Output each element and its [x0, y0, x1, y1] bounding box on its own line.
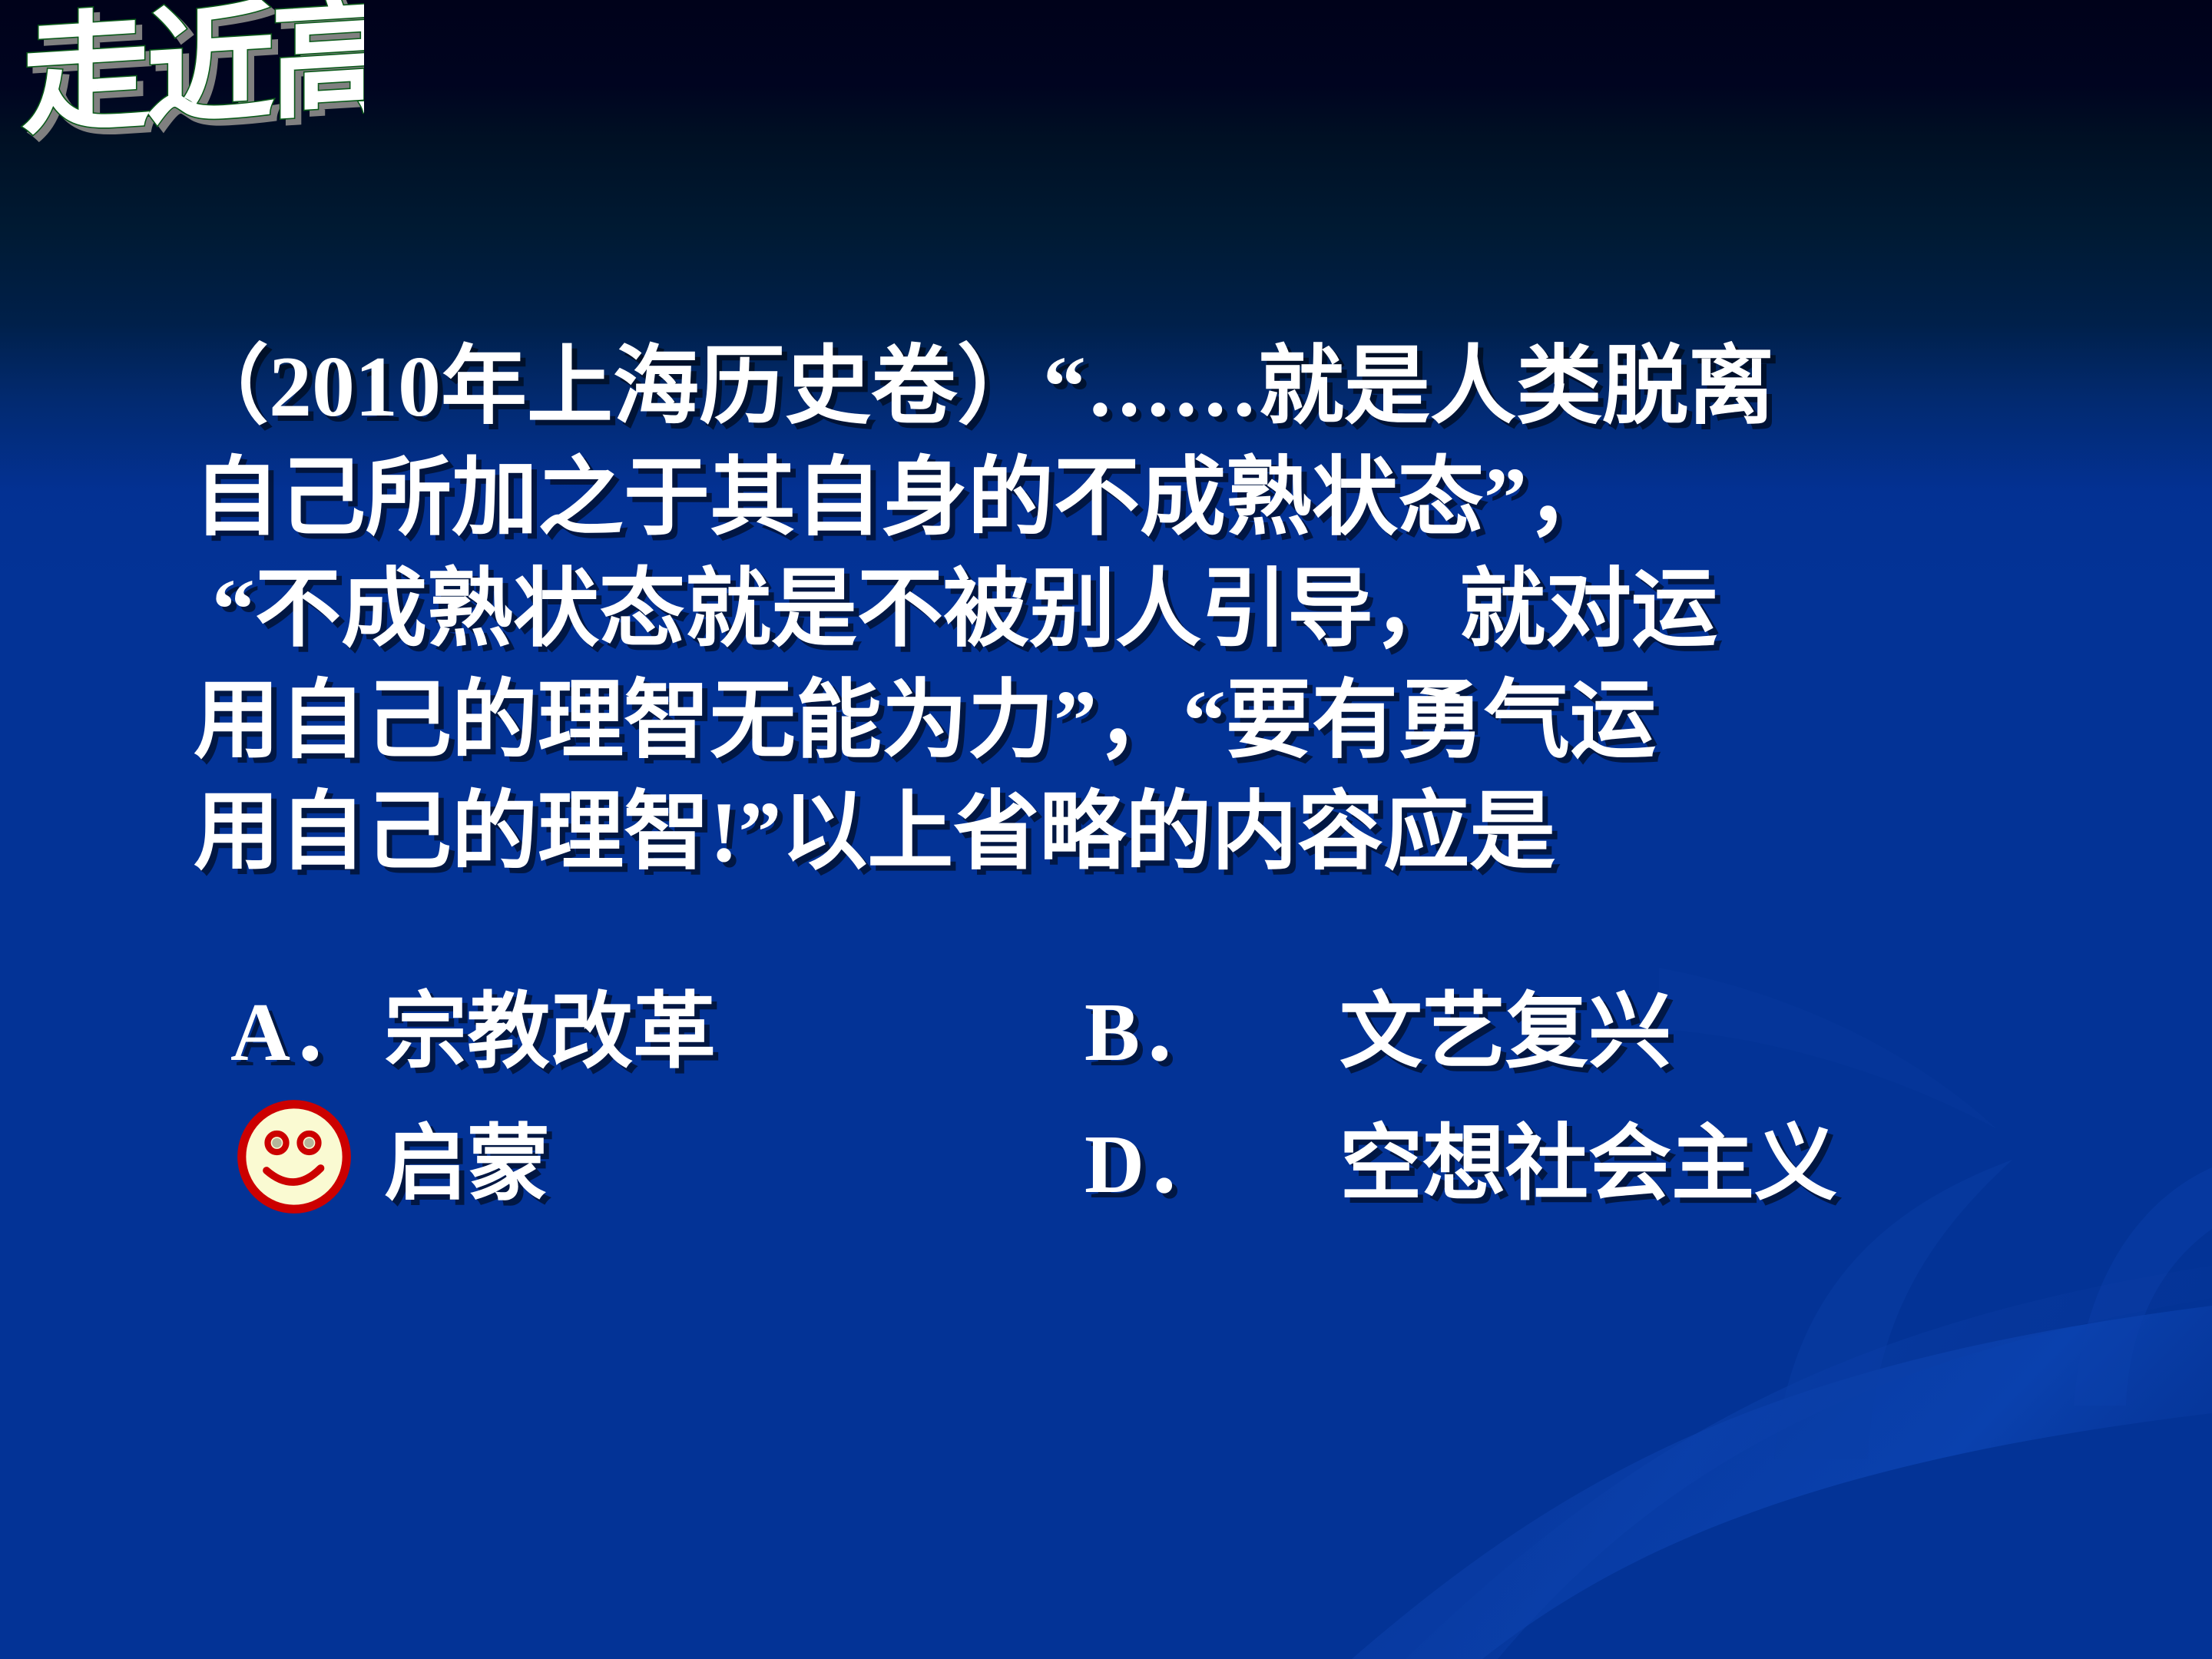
- smiley-face-icon: [237, 1098, 352, 1215]
- option-b[interactable]: B． 文艺复兴: [983, 965, 1982, 1084]
- option-a[interactable]: A． 宗教改革: [230, 965, 983, 1084]
- swoosh-band-lower-thin: [1406, 1266, 2212, 1659]
- option-a-marker: A．: [230, 965, 384, 1084]
- option-c-label: 启蒙: [384, 1097, 550, 1217]
- option-row-1: A． 宗教改革 B． 文艺复兴: [230, 959, 1997, 1091]
- question-stem: （2010年上海历史卷）“……就是人类脱离 自己所加之于其自身的不成熟状态”， …: [183, 332, 2080, 889]
- presentation-slide: 走近高考 走近高考 （2010年上海历史卷）“……就是人类脱离 自己所加之于其自…: [0, 0, 2212, 1659]
- question-line-1: （2010年上海历史卷）“……就是人类脱离: [183, 332, 2080, 443]
- option-c[interactable]: 启蒙: [230, 1097, 983, 1217]
- question-line-3: “不成熟状态就是不被别人引导，就对运: [212, 555, 2080, 666]
- option-c-marker: [230, 1098, 384, 1215]
- swoosh-hook-right: [2074, 1167, 2212, 1406]
- answer-options: A． 宗教改革 B． 文艺复兴: [230, 959, 1997, 1223]
- option-d-marker: D．: [983, 1097, 1339, 1217]
- option-a-label: 宗教改革: [384, 965, 716, 1084]
- option-d-label: 空想社会主义: [1339, 1097, 1837, 1217]
- slide-title-wordart: 走近高考 走近高考: [11, 0, 364, 174]
- smiley-right-eye-center: [304, 1138, 314, 1148]
- option-b-marker: B．: [983, 965, 1339, 1084]
- smiley-face-circle: [242, 1104, 347, 1210]
- title-svg: 走近高考 走近高考: [11, 0, 364, 174]
- question-line-2: 自己所加之于其自身的不成熟状态”，: [194, 443, 2080, 555]
- smiley-left-eye-center: [272, 1138, 282, 1148]
- question-line-4: 用自己的理智无能为力”，“要有勇气运: [194, 666, 2080, 777]
- option-row-2: 启蒙 D． 空想社会主义: [230, 1091, 1997, 1223]
- swoosh-band-lower: [1352, 1306, 2212, 1659]
- option-b-label: 文艺复兴: [1339, 965, 1671, 1084]
- question-line-5: 用自己的理智!”以上省略的内容应是: [194, 777, 2080, 889]
- title-text: 走近高考: [22, 0, 364, 153]
- option-d[interactable]: D． 空想社会主义: [983, 1097, 1982, 1217]
